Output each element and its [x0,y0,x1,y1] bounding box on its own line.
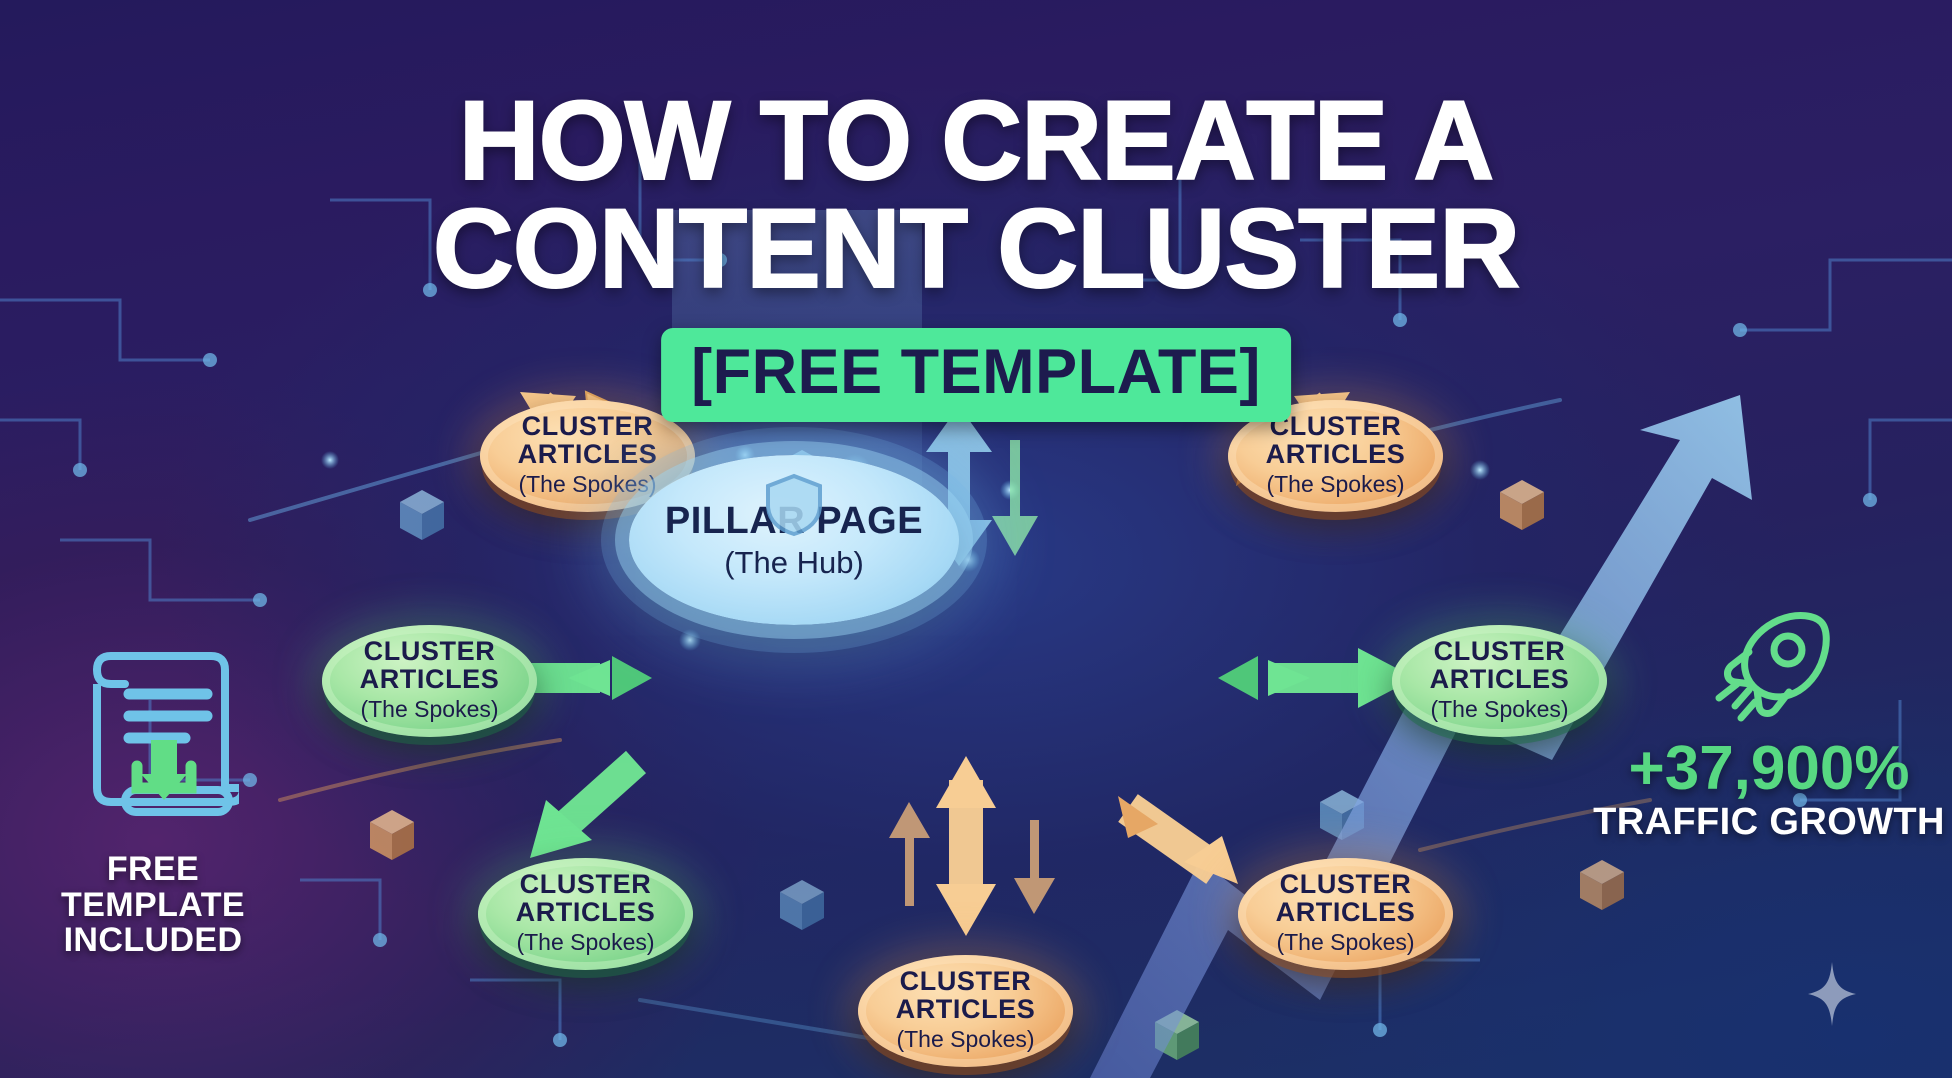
cluster-node-bottom-left[interactable]: CLUSTERARTICLES(The Spokes) [478,858,693,970]
cluster-node-title-2: ARTICLES [896,996,1036,1024]
callout-line-1: FREE [61,852,245,888]
callout-line-3: INCLUDED [61,923,245,959]
cluster-node-title-1: CLUSTER [522,413,654,441]
document-download-icon [67,648,239,838]
sparkle-icon [1808,962,1856,1026]
headline-line-1: HOW TO CREATE A [0,87,1952,195]
cluster-node-subtitle: (The Spokes) [1276,928,1414,957]
free-template-caption: FREE TEMPLATE INCLUDED [61,852,245,959]
traffic-growth-stat: +37,900% [1629,738,1910,800]
cluster-node-subtitle: (The Spokes) [1266,470,1404,499]
cluster-node-subtitle: (The Spokes) [360,695,498,724]
cluster-node-title-2: ARTICLES [1266,441,1406,469]
page-title: HOW TO CREATE A CONTENT CLUSTER [0,87,1952,302]
cluster-node-subtitle: (The Spokes) [1430,695,1568,724]
cluster-node-title-2: ARTICLES [518,441,658,469]
cluster-node-bottom-right[interactable]: CLUSTERARTICLES(The Spokes) [1238,858,1453,970]
cluster-node-title-2: ARTICLES [1430,666,1570,694]
cluster-node-middle-right[interactable]: CLUSTERARTICLES(The Spokes) [1392,625,1607,737]
cluster-node-title-1: CLUSTER [1434,638,1566,666]
cluster-node-title-1: CLUSTER [1280,871,1412,899]
free-template-callout: FREE TEMPLATE INCLUDED [38,648,268,959]
rocket-icon [1705,610,1833,732]
cluster-node-subtitle: (The Spokes) [896,1025,1034,1054]
cluster-node-title-1: CLUSTER [900,968,1032,996]
cluster-node-bottom-center[interactable]: CLUSTERARTICLES(The Spokes) [858,955,1073,1067]
cluster-node-title-1: CLUSTER [1270,413,1402,441]
free-template-badge[interactable]: [FREE TEMPLATE] [661,328,1291,422]
cluster-node-title-1: CLUSTER [520,871,652,899]
infographic-canvas: HOW TO CREATE A CONTENT CLUSTER [FREE TE… [0,0,1952,1078]
cluster-node-subtitle: (The Spokes) [516,928,654,957]
cluster-node-title-2: ARTICLES [516,899,656,927]
cluster-node-subtitle: (The Spokes) [518,470,656,499]
shield-icon [764,473,824,537]
cluster-node-middle-left[interactable]: CLUSTERARTICLES(The Spokes) [322,625,537,737]
traffic-growth-callout: +37,900% TRAFFIC GROWTH [1604,610,1934,844]
pillar-page-hub[interactable]: PILLAR PAGE (The Hub) [629,455,959,625]
cluster-node-title-2: ARTICLES [1276,899,1416,927]
traffic-growth-label: TRAFFIC GROWTH [1593,802,1945,844]
cluster-node-title-2: ARTICLES [360,666,500,694]
cluster-node-title-1: CLUSTER [364,638,496,666]
headline-line-2: CONTENT CLUSTER [0,195,1952,303]
callout-line-2: TEMPLATE [61,888,245,924]
hub-subtitle: (The Hub) [724,545,864,581]
